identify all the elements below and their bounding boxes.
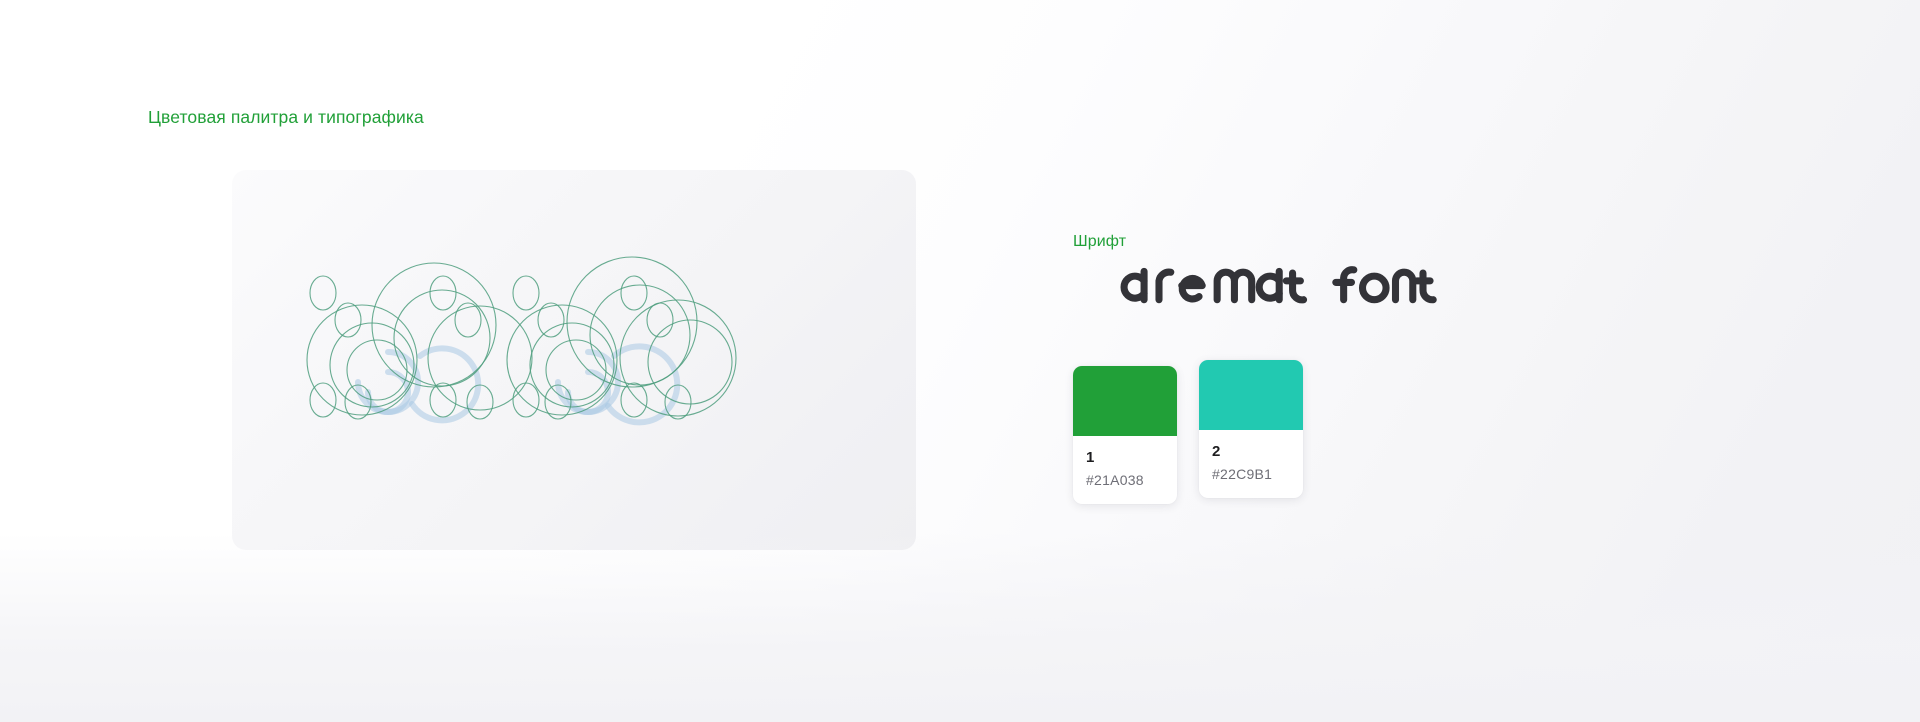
swatch-index: 2 [1212, 443, 1290, 460]
swatch-meta: 2 #22C9B1 [1199, 430, 1303, 498]
color-swatch-card[interactable]: 1 #21A038 [1073, 366, 1177, 504]
aremat-font-wordmark [1073, 262, 1465, 306]
color-swatch-card[interactable]: 2 #22C9B1 [1199, 360, 1303, 498]
typography-grid-card [232, 170, 916, 550]
slide-background: Цветовая палитра и типографика [0, 0, 1920, 722]
construction-grid-illustration [162, 160, 982, 580]
typography-section: Шрифт [1073, 232, 1553, 308]
font-label: Шрифт [1073, 232, 1553, 252]
swatch-color-block [1199, 360, 1303, 430]
page-title: Цветовая палитра и типографика [148, 106, 424, 128]
swatch-hex-value: #21A038 [1086, 472, 1164, 488]
swatch-hex-value: #22C9B1 [1212, 466, 1290, 482]
swatch-index: 1 [1086, 449, 1164, 466]
font-sample-wordmark [1073, 262, 1553, 308]
swatch-color-block [1073, 366, 1177, 436]
color-palette: 1 #21A038 2 #22C9B1 [1073, 366, 1303, 504]
swatch-meta: 1 #21A038 [1073, 436, 1177, 504]
